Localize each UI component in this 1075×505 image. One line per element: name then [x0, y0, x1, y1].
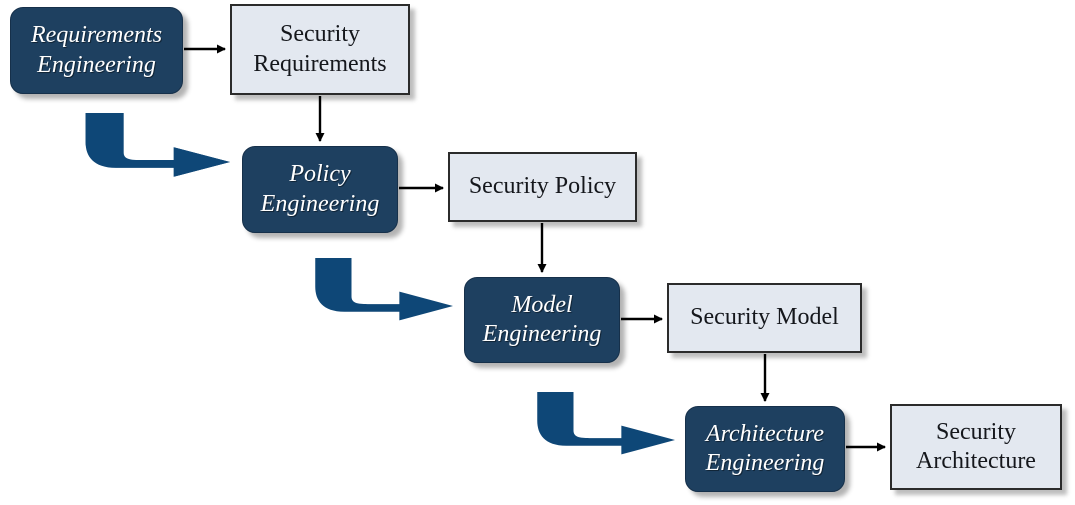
node-label-requirements-engineering: Requirements Engineering [25, 21, 168, 80]
node-security-architecture[interactable]: Security Architecture [890, 404, 1062, 490]
node-label-policy-engineering: Policy Engineering [255, 160, 386, 219]
node-label-security-architecture: Security Architecture [910, 418, 1042, 477]
curved-arrow-2 [315, 258, 453, 320]
curved-arrow-3 [537, 392, 675, 454]
node-security-model[interactable]: Security Model [667, 283, 862, 353]
node-policy-engineering[interactable]: Policy Engineering [242, 146, 398, 233]
node-architecture-engineering[interactable]: Architecture Engineering [685, 406, 845, 492]
node-label-security-requirements: Security Requirements [247, 20, 392, 79]
node-label-security-model: Security Model [684, 303, 845, 332]
node-security-requirements[interactable]: Security Requirements [230, 4, 410, 95]
node-label-security-policy: Security Policy [463, 172, 622, 201]
node-label-architecture-engineering: Architecture Engineering [700, 420, 831, 479]
security-engineering-diagram: Requirements Engineering Security Requir… [0, 0, 1075, 505]
node-model-engineering[interactable]: Model Engineering [464, 277, 620, 363]
curved-arrow-1 [86, 113, 230, 177]
node-requirements-engineering[interactable]: Requirements Engineering [10, 7, 183, 94]
node-security-policy[interactable]: Security Policy [448, 152, 637, 222]
node-label-model-engineering: Model Engineering [477, 291, 608, 350]
